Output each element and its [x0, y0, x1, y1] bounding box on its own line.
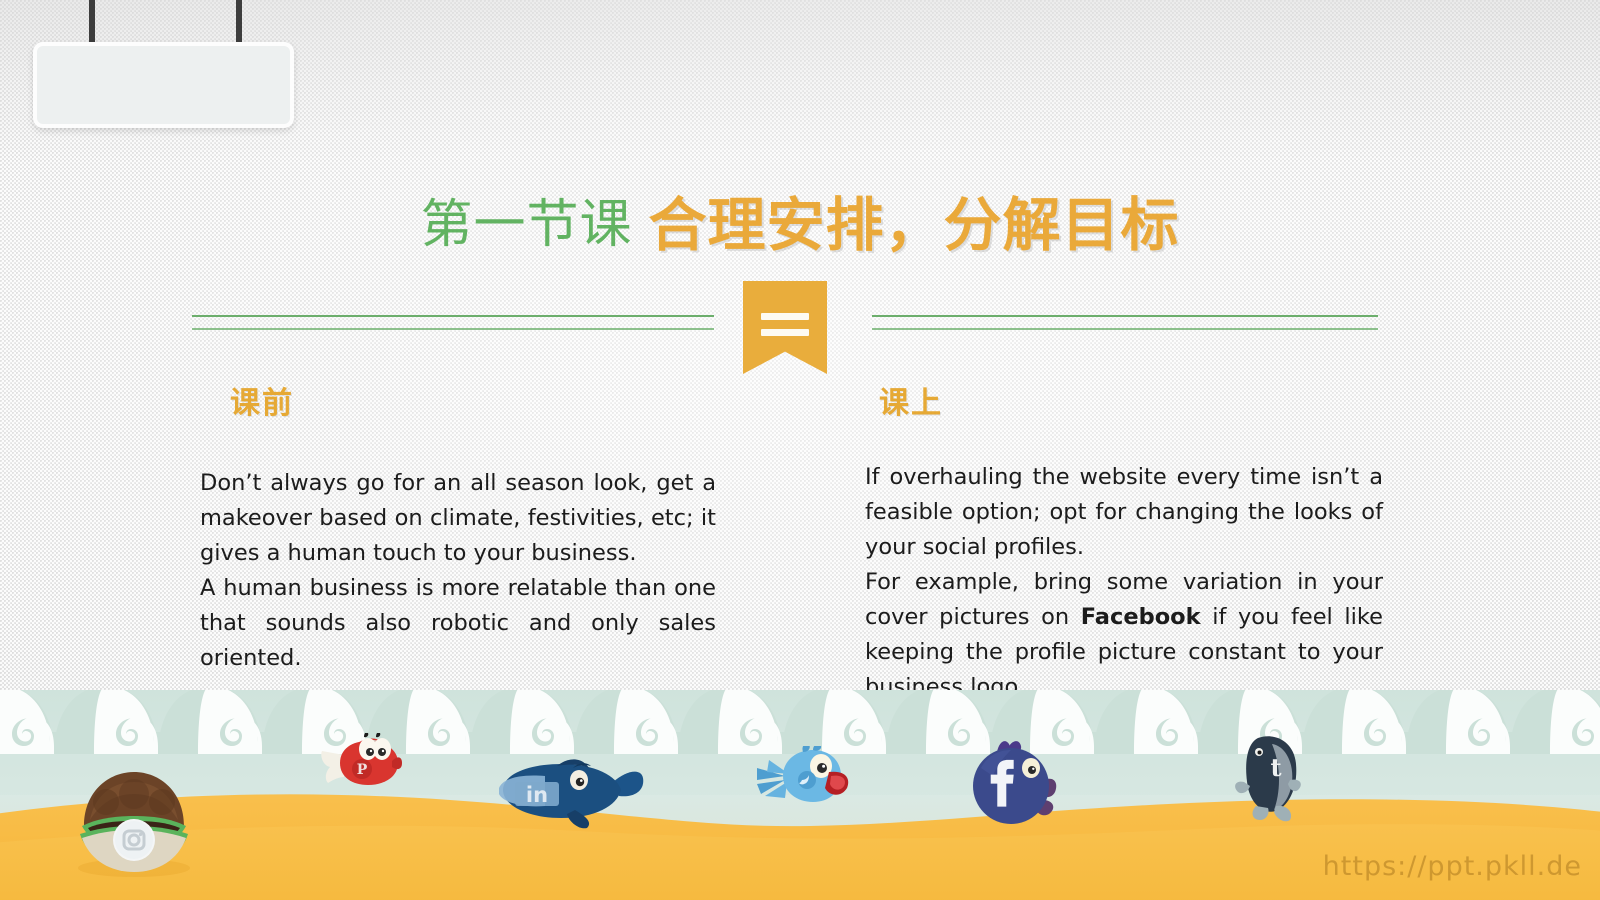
fish-linkedin: in [495, 756, 647, 830]
slide-canvas: 第一节课合理安排，分解目标 课前 Don’t always go for an … [0, 0, 1600, 900]
fish-twitter [755, 746, 851, 810]
divider-line-left [192, 315, 714, 330]
paragraph-right-1: If overhauling the website every time is… [865, 460, 1383, 565]
ocean-scene: P in [0, 690, 1600, 900]
tumblr-icon: t [1270, 753, 1281, 782]
wave-crest-pattern [0, 690, 1600, 754]
page-title-main: 合理安排，分解目标 [649, 191, 1180, 259]
hanging-cord-right [236, 0, 242, 48]
hanging-sign[interactable] [33, 42, 294, 128]
whale-tumblr: t [1232, 732, 1316, 824]
page-title-prefix: 第一节课 [420, 195, 632, 255]
fish-pinterest: P [318, 733, 404, 795]
column-heading-before-class: 课前 [230, 378, 716, 422]
brand-facebook: Facebook [1081, 604, 1201, 630]
watermark: https://ppt.pkll.de [1323, 851, 1582, 882]
content-column-right: 课上 If overhauling the website every time… [865, 378, 1383, 705]
pinterest-icon: P [357, 762, 368, 778]
ribbon-bar-upper [761, 313, 809, 320]
content-column-left: 课前 Don’t always go for an all season loo… [200, 378, 716, 676]
page-title: 第一节课合理安排，分解目标 [0, 196, 1600, 254]
paragraph-left-2: A human business is more relatable than … [200, 571, 716, 676]
paragraph-right-2: For example, bring some variation in you… [865, 565, 1383, 705]
linkedin-icon: in [526, 783, 548, 807]
column-heading-in-class: 课上 [879, 378, 1383, 422]
ribbon-bar-lower [761, 329, 809, 336]
paragraph-left-1: Don’t always go for an all season look, … [200, 466, 716, 571]
clam-instagram [68, 768, 200, 878]
fish-facebook [967, 738, 1063, 830]
hanging-cord-left [89, 0, 95, 48]
divider-line-right [872, 315, 1378, 330]
